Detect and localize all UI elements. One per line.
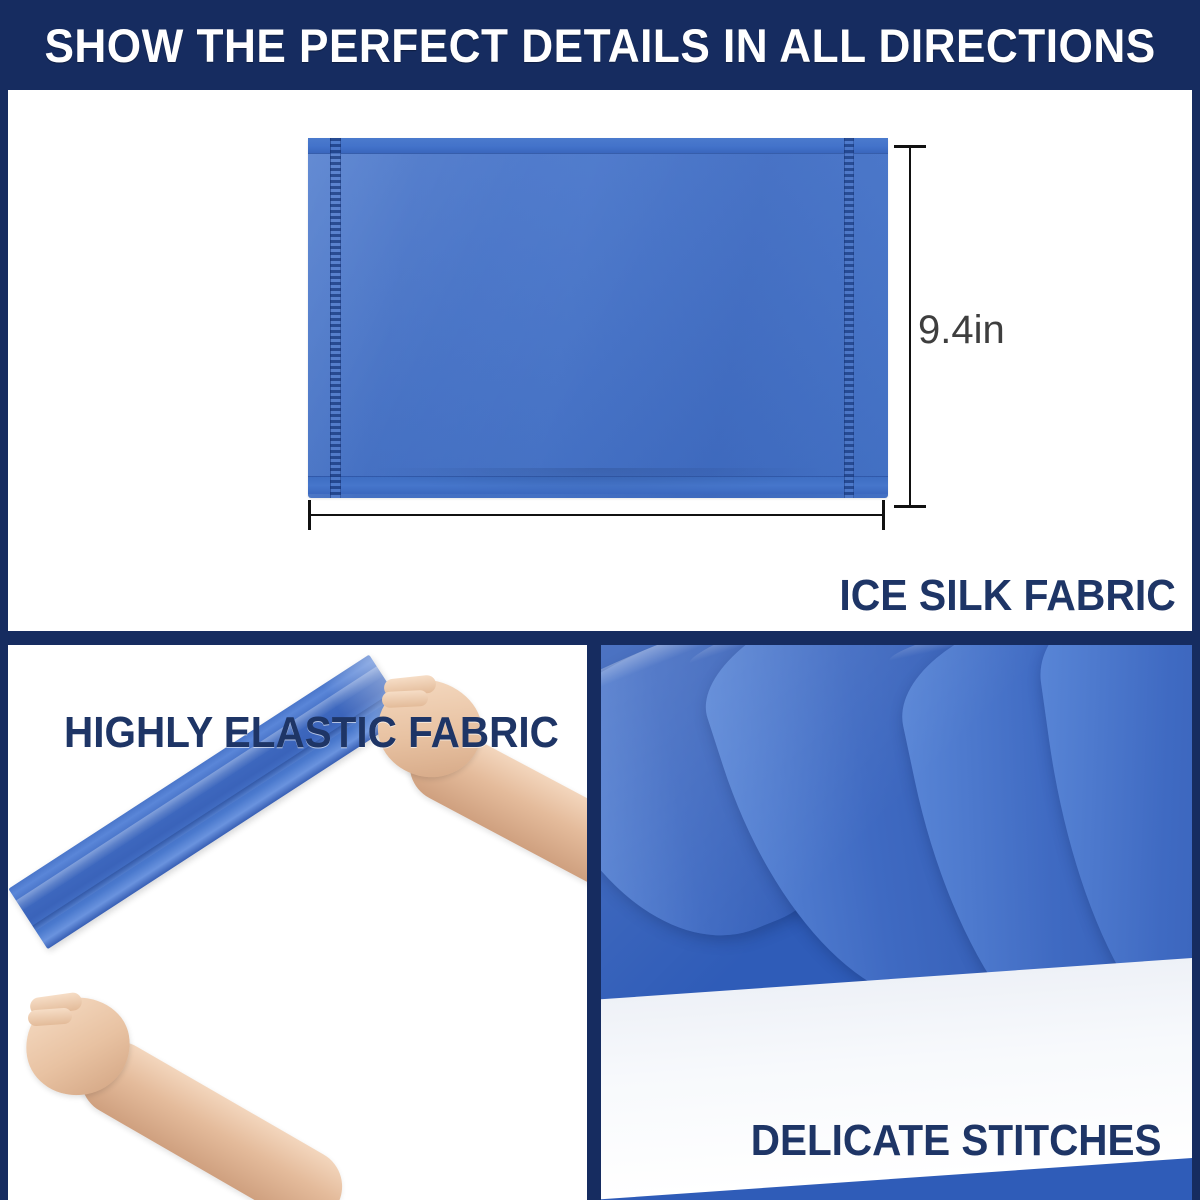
fabric-left-seam-stitch xyxy=(330,138,341,498)
product-fabric-image xyxy=(300,138,900,508)
fabric-body xyxy=(308,138,888,498)
fabric-top-hem xyxy=(308,138,888,154)
width-dimension-line: 15.3in xyxy=(308,514,885,516)
height-dimension-line xyxy=(909,145,911,508)
height-dimension-cap-top xyxy=(894,145,926,148)
fabric-right-seam-stitch xyxy=(844,138,854,498)
band-highlight xyxy=(16,666,383,910)
height-dimension-label: 9.4in xyxy=(918,308,1005,353)
page-title: SHOW THE PERFECT DETAILS IN ALL DIRECTIO… xyxy=(44,18,1155,73)
finger-lower-left-2 xyxy=(27,1007,72,1026)
caption-ice-silk-fabric: ICE SILK FABRIC xyxy=(840,571,1176,621)
height-dimension-cap-bottom xyxy=(894,505,926,508)
caption-highly-elastic-fabric: HIGHLY ELASTIC FABRIC xyxy=(64,708,559,758)
width-dimension-cap-right xyxy=(882,500,885,530)
panel-delicate-stitches: DELICATE STITCHES xyxy=(601,645,1192,1200)
width-dimension-cap-left xyxy=(308,500,311,530)
header-banner: SHOW THE PERFECT DETAILS IN ALL DIRECTIO… xyxy=(0,0,1200,90)
finger-upper-right-2 xyxy=(382,690,429,708)
caption-delicate-stitches: DELICATE STITCHES xyxy=(751,1116,1162,1166)
panel-ice-silk-fabric: 9.4in 15.3in ICE SILK FABRIC xyxy=(8,90,1192,631)
stretched-fabric-band xyxy=(8,655,408,950)
fabric-bottom-hem xyxy=(308,476,888,494)
